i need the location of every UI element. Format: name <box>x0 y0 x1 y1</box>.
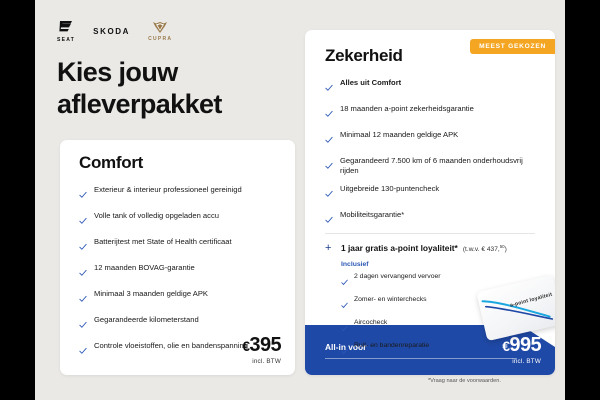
list-item: Ruit- en bandenreparatie <box>341 341 491 360</box>
list-item: Minimaal 3 maanden geldige APK <box>79 289 279 308</box>
check-icon <box>79 342 87 360</box>
skoda-logo: SKODA <box>93 27 130 36</box>
comfort-package-card[interactable]: Comfort Exterieur & interieur profession… <box>60 140 295 375</box>
list-item-label: 2 dagen vervangend vervoer <box>354 272 441 281</box>
seat-logo: SEAT <box>57 20 75 43</box>
list-item-label: 12 maanden BOVAG-garantie <box>94 263 195 273</box>
loyalty-value-text: (t.w.v. € 437, <box>463 246 500 253</box>
list-item-label: Minimaal 3 maanden geldige APK <box>94 289 208 299</box>
check-icon <box>79 212 87 230</box>
comfort-price-value: 395 <box>249 334 281 356</box>
list-item: Aircocheck <box>341 318 491 337</box>
loyalty-value-note: (t.w.v. € 437,50) <box>463 244 507 253</box>
list-item-label: Minimaal 12 maanden geldige APK <box>340 130 458 140</box>
list-item-label: Alles uit Comfort <box>340 78 401 88</box>
list-item-label: Aircocheck <box>354 318 387 327</box>
check-icon <box>79 316 87 334</box>
zekerheid-price-block: €995 incl. BTW <box>502 335 541 365</box>
cupra-logo-label: CUPRA <box>148 36 172 42</box>
zekerheid-feature-list: Alles uit Comfort 18 maanden a-point zek… <box>325 78 540 236</box>
check-icon <box>325 79 333 97</box>
skoda-logo-label: SKODA <box>93 27 130 36</box>
list-item: Exterieur & interieur professioneel gere… <box>79 185 279 204</box>
check-icon <box>325 105 333 123</box>
list-item-label: Gegarandeerd 7.500 km of 6 maanden onder… <box>340 156 540 177</box>
check-icon <box>341 319 348 337</box>
zekerheid-price-note: incl. BTW <box>502 358 541 365</box>
list-item-label: 18 maanden a-point zekerheidsgarantie <box>340 104 474 114</box>
list-item: Minimaal 12 maanden geldige APK <box>325 130 540 149</box>
plus-icon: + <box>325 243 334 254</box>
list-item: 2 dagen vervangend vervoer <box>341 272 491 291</box>
brand-logo-row: SEAT SKODA CUPRA <box>57 20 172 43</box>
promo-canvas: SEAT SKODA CUPRA Kies jouw afleverpakket… <box>35 0 565 400</box>
check-icon <box>325 185 333 203</box>
list-item: Batterijtest met State of Health certifi… <box>79 237 279 256</box>
list-item: Gegarandeerd 7.500 km of 6 maanden onder… <box>325 156 540 177</box>
check-icon <box>79 264 87 282</box>
comfort-price-note: incl. BTW <box>242 358 281 365</box>
list-item-label: Gegarandeerde kilometerstand <box>94 315 199 325</box>
footnote: *Vraag naar de voorwaarden. <box>428 378 501 384</box>
list-item: 12 maanden BOVAG-garantie <box>79 263 279 282</box>
list-item: Alles uit Comfort <box>325 78 540 97</box>
list-item-label: Controle vloeistoffen, olie en bandenspa… <box>94 341 248 351</box>
cupra-logo-icon <box>152 21 168 34</box>
list-item: Mobiliteitsgarantie* <box>325 210 540 229</box>
seat-logo-label: SEAT <box>57 37 75 43</box>
check-icon <box>325 131 333 149</box>
included-list: 2 dagen vervangend vervoer Zomer- en win… <box>341 272 491 360</box>
list-item-label: Uitgebreide 130-puntencheck <box>340 184 439 194</box>
list-item-label: Batterijtest met State of Health certifi… <box>94 237 232 247</box>
check-icon <box>325 211 333 229</box>
zekerheid-price-value: 995 <box>509 334 541 356</box>
check-icon <box>79 290 87 308</box>
list-item-label: Volle tank of volledig opgeladen accu <box>94 211 219 221</box>
loyalty-header: + 1 jaar gratis a-point loyaliteit* (t.w… <box>325 243 540 254</box>
cupra-logo: CUPRA <box>148 21 172 42</box>
zekerheid-price: €995 <box>502 335 541 355</box>
check-icon <box>79 186 87 204</box>
comfort-title: Comfort <box>79 153 143 173</box>
list-item: Volle tank of volledig opgeladen accu <box>79 211 279 230</box>
loyalty-value-end: ) <box>505 246 507 253</box>
list-item-label: Zomer- en winterchecks <box>354 295 427 304</box>
status-badge: MEEST GEKOZEN <box>470 39 555 54</box>
screenshot-frame: SEAT SKODA CUPRA Kies jouw afleverpakket… <box>0 0 600 400</box>
list-item-label: Mobiliteitsgarantie* <box>340 210 404 220</box>
seat-logo-icon <box>59 20 73 35</box>
loyalty-title: 1 jaar gratis a-point loyaliteit* <box>341 243 458 253</box>
list-item-label: Ruit- en bandenreparatie <box>354 341 429 350</box>
check-icon <box>79 238 87 256</box>
included-label: Inclusief <box>341 261 540 268</box>
zekerheid-title: Zekerheid <box>325 46 403 66</box>
check-icon <box>341 342 348 360</box>
comfort-price-block: €395 incl. BTW <box>242 335 281 365</box>
list-item: Uitgebreide 130-puntencheck <box>325 184 540 203</box>
zekerheid-package-card[interactable]: MEEST GEKOZEN Zekerheid Alles uit Comfor… <box>305 30 555 375</box>
list-item: Gegarandeerde kilometerstand <box>79 315 279 334</box>
section-divider <box>325 233 535 234</box>
comfort-price: €395 <box>242 335 281 355</box>
check-icon <box>325 157 333 175</box>
page-title: Kies jouw afleverpakket <box>57 57 317 120</box>
list-item: Zomer- en winterchecks <box>341 295 491 314</box>
check-icon <box>341 296 348 314</box>
list-item: 18 maanden a-point zekerheidsgarantie <box>325 104 540 123</box>
list-item-label: Exterieur & interieur professioneel gere… <box>94 185 242 195</box>
check-icon <box>341 273 348 291</box>
